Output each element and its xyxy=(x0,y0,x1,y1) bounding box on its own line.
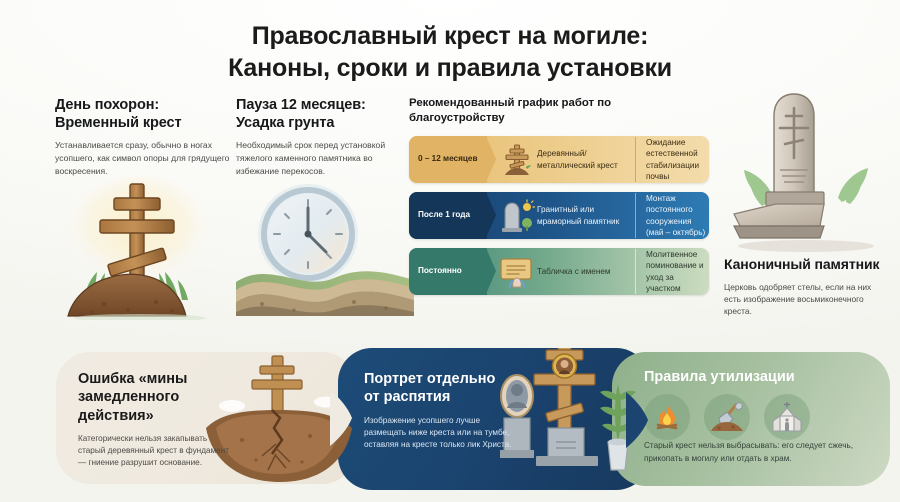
orthodox-cross-on-grave-mound-illustration xyxy=(52,172,232,320)
clock-over-soil-layers-illustration xyxy=(236,176,414,316)
timeline-period-badge: Постоянно xyxy=(409,248,487,295)
name-plaque-icon xyxy=(497,256,537,288)
infographic-page: Православный крест на могиле: Каноны, ср… xyxy=(0,0,900,502)
disposal-body: Старый крест нельзя выбрасывать: его сле… xyxy=(644,440,864,465)
schedule-heading: Рекомендованный график работ по благоуст… xyxy=(409,96,644,127)
portrait-text-block: Портрет отдельно от распятия Изображение… xyxy=(364,370,514,451)
pause-body: Необходимый срок перед установкой тяжело… xyxy=(236,139,404,177)
timeline-period-badge: После 1 года xyxy=(409,192,487,239)
shovel-digging-icon xyxy=(704,394,750,440)
section-funeral-day: День похорон: Временный крест Устанавлив… xyxy=(55,96,231,177)
timeline-row[interactable]: 0 – 12 месяцев Деревянный/ металлический… xyxy=(409,136,709,183)
mistake-body: Категорически нельзя закапывать старый д… xyxy=(78,433,230,470)
mistake-heading: Ошибка «мины замедленного действия» xyxy=(78,370,230,425)
timeline-marker-type: Гранитный или мраморный памятник xyxy=(537,204,631,227)
monument-body: Церковь одобряет стелы, если на них есть… xyxy=(724,281,890,318)
church-icon xyxy=(764,394,810,440)
pause-heading: Пауза 12 месяцев: Усадка грунта xyxy=(236,96,404,132)
schedule-timeline: 0 – 12 месяцев Деревянный/ металлический… xyxy=(409,136,709,304)
timeline-row[interactable]: Постоянно Табличка с именем Молитвенное … xyxy=(409,248,709,295)
timeline-reason: Монтаж постоянного сооружения (май – окт… xyxy=(635,193,709,238)
title-line-1: Православный крест на могиле: xyxy=(252,22,649,50)
timeline-row[interactable]: После 1 года Гранитный или мраморный пам… xyxy=(409,192,709,239)
disposal-heading: Правила утилизации xyxy=(644,368,864,386)
timeline-marker-type: Табличка с именем xyxy=(537,266,631,277)
mistake-text-block: Ошибка «мины замедленного действия» Кате… xyxy=(78,370,230,470)
portrait-body: Изображение усопшего лучше размещать ниж… xyxy=(364,415,514,452)
funeral-heading: День похорон: Временный крест xyxy=(55,96,231,132)
wooden-cross-icon xyxy=(497,143,537,177)
portrait-heading: Портрет отдельно от распятия xyxy=(364,370,514,407)
schedule-heading-block: Рекомендованный график работ по благоуст… xyxy=(409,96,644,127)
title-line-2: Каноны, сроки и правила установки xyxy=(0,52,900,84)
panel-portrait-separate[interactable]: Портрет отдельно от распятия Изображение… xyxy=(338,348,650,490)
page-title: Православный крест на могиле: Каноны, ср… xyxy=(0,20,900,84)
timeline-reason: Молитвенное поминование и уход за участк… xyxy=(635,249,709,294)
granite-stele-illustration xyxy=(726,86,890,256)
disposal-icon-row xyxy=(644,394,810,440)
section-soil-settling: Пауза 12 месяцев: Усадка грунта Необходи… xyxy=(236,96,404,177)
timeline-reason: Ожидание естественной стабилизации почвы xyxy=(635,137,709,182)
timeline-marker-type: Деревянный/ металлический крест xyxy=(537,148,631,171)
headstone-icon xyxy=(497,199,537,233)
section-canonical-monument: Каноничный памятник Церковь одобряет сте… xyxy=(724,256,890,318)
monument-heading: Каноничный памятник xyxy=(724,256,890,274)
connector-arrow-icon xyxy=(626,392,652,448)
panel-disposal-rules[interactable]: Правила утилизации Старый крест нельзя в… xyxy=(612,352,890,486)
timeline-period-badge: 0 – 12 месяцев xyxy=(409,136,487,183)
connector-arrow-icon xyxy=(330,390,356,446)
panel-timebomb-mistake[interactable]: Ошибка «мины замедленного действия» Кате… xyxy=(56,352,356,484)
